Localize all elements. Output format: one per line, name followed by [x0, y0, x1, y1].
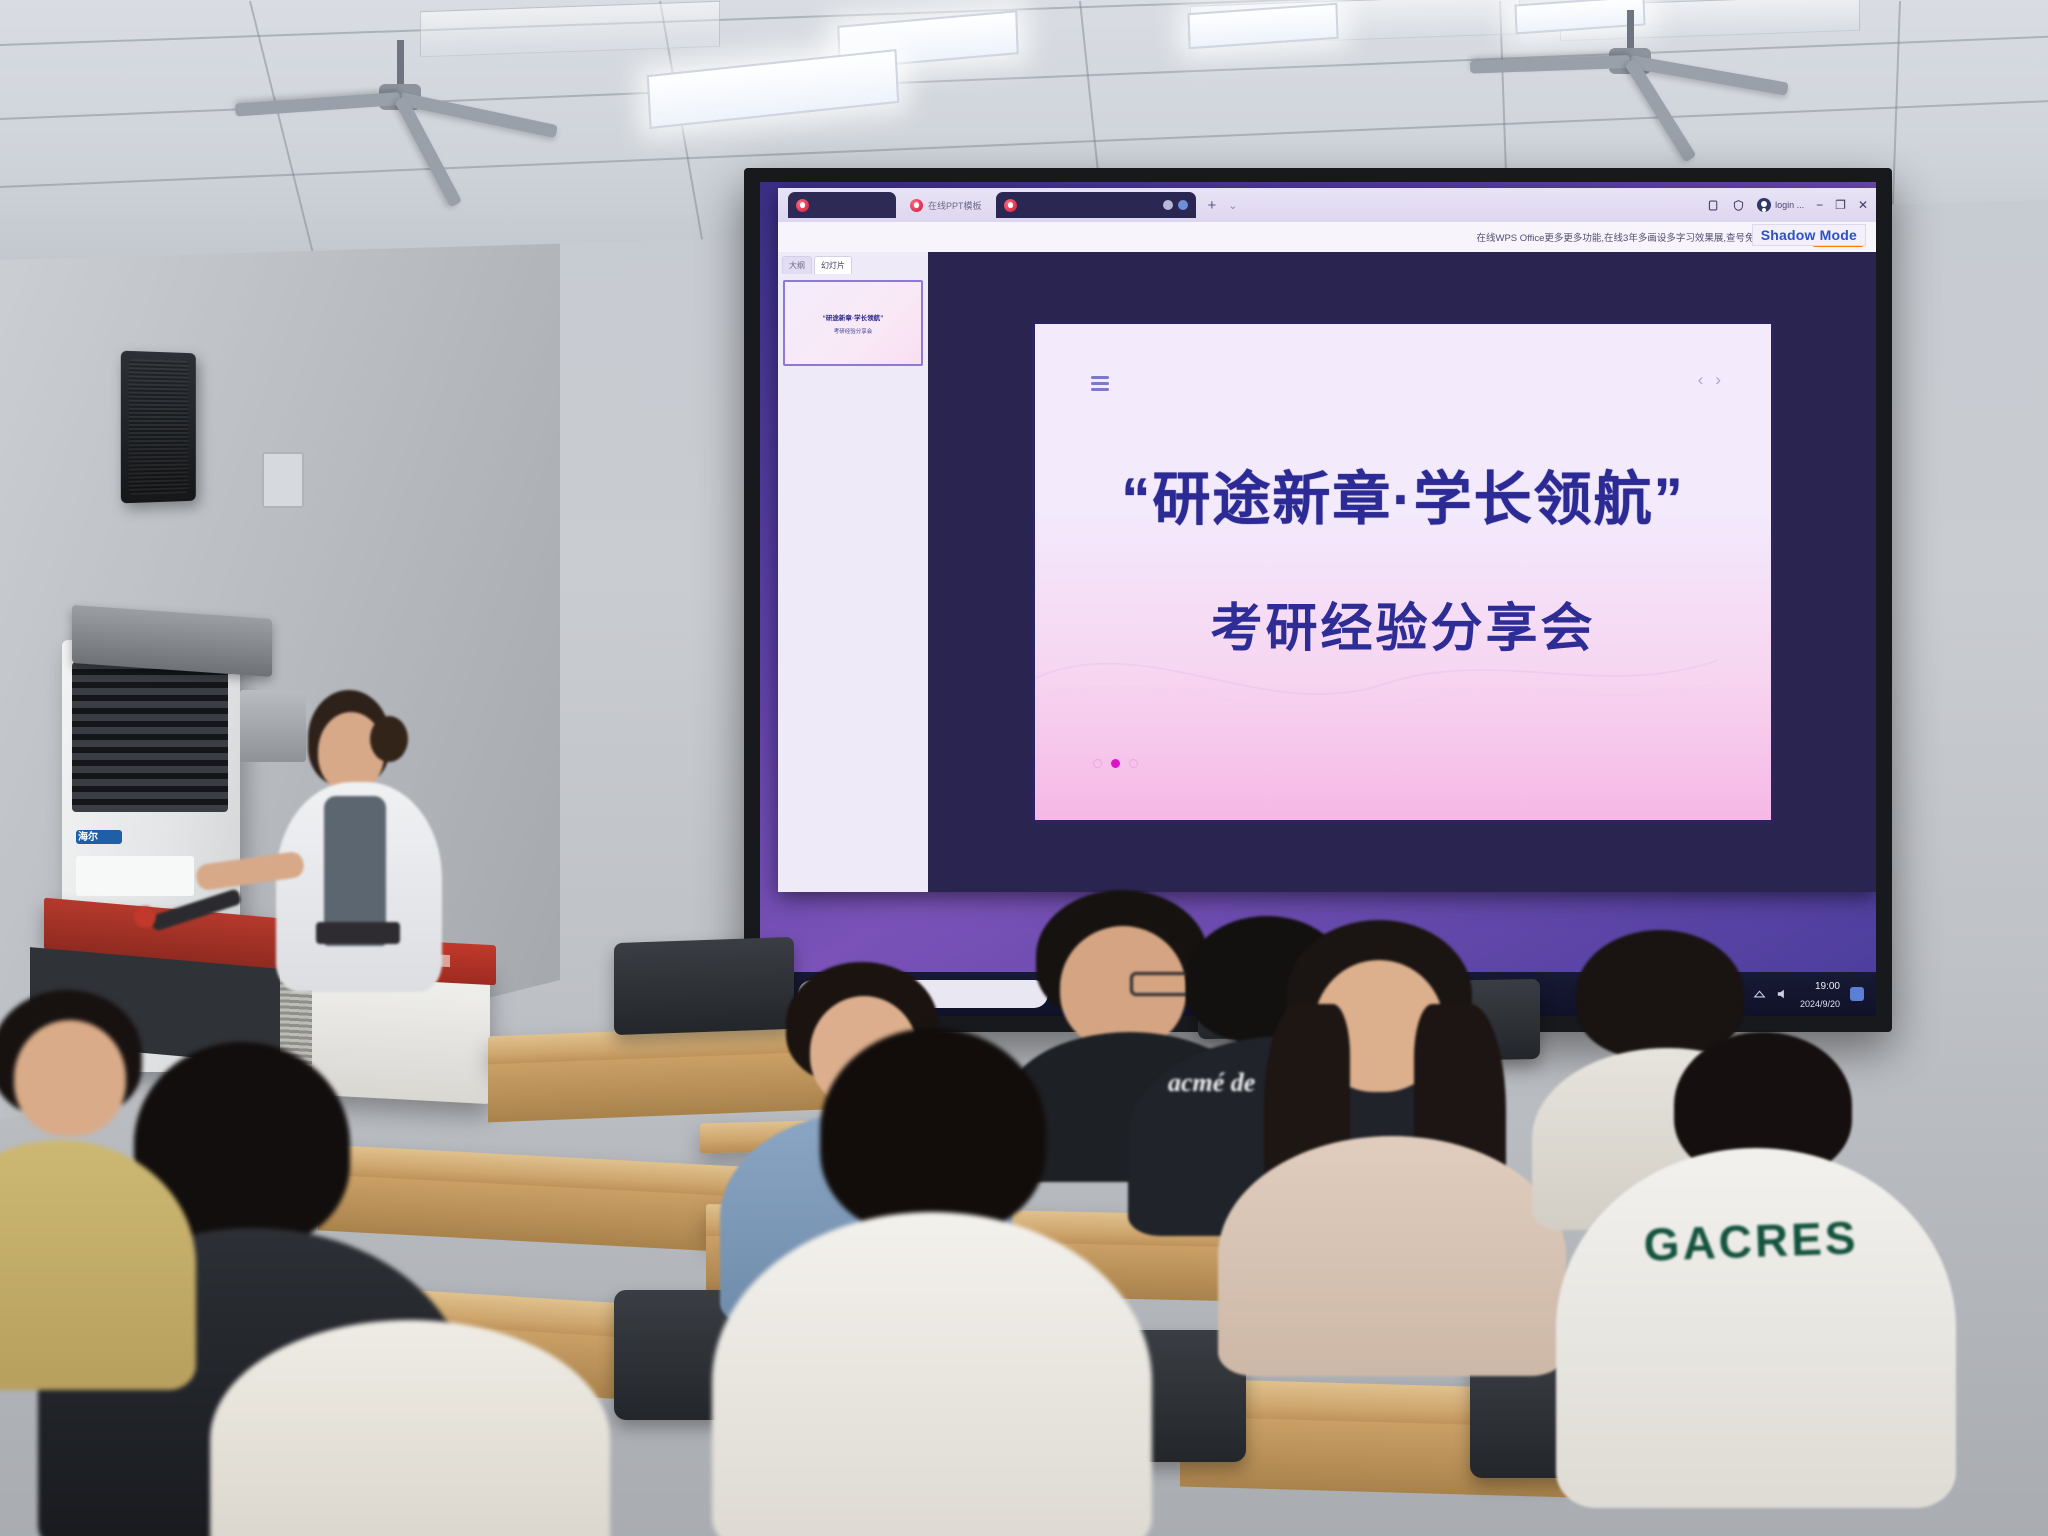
browser-tab-1[interactable]	[788, 192, 896, 218]
shield-icon[interactable]	[1732, 199, 1745, 212]
taskbar-clock[interactable]: 19:00 2024/9/20	[1800, 976, 1840, 1013]
slide-subtitle: 考研经验分享会	[1035, 586, 1771, 661]
presenter-belt	[316, 922, 400, 944]
slide-pagination[interactable]	[1093, 759, 1138, 768]
tab-label: 在线PPT模板	[928, 199, 982, 212]
profile-button[interactable]: login ...	[1757, 198, 1804, 212]
window-minimize-button[interactable]: −	[1816, 199, 1823, 211]
browser-tab-3[interactable]	[996, 192, 1196, 218]
slide-nav-controls[interactable]: ‹ ›	[1698, 370, 1721, 390]
ceiling-fan-right	[1480, 10, 1780, 120]
torso	[1556, 1148, 1956, 1508]
wps-browser-window: 在线PPT模板 + ⌄	[778, 188, 1876, 892]
slide-stage: ‹ › “研途新章·学长领航” 考研经验分享会	[928, 252, 1876, 892]
thumbnail-title: “研途新章·学长领航”	[823, 312, 884, 322]
wall-speaker	[121, 351, 196, 504]
hamburger-icon[interactable]	[1091, 376, 1109, 394]
clock-time: 19:00	[1815, 981, 1840, 992]
hair	[820, 1028, 1046, 1234]
pagination-dot[interactable]	[1093, 759, 1102, 768]
outlet-panel	[262, 452, 304, 508]
tab-audio-icon[interactable]	[1163, 200, 1173, 210]
browser-tab-2[interactable]: 在线PPT模板	[902, 192, 990, 218]
tab-overflow-icon[interactable]: ⌄	[1228, 199, 1237, 212]
wps-app-body: 大纲 幻灯片 “研途新章·学长领航” 考研经验分享会	[778, 252, 1876, 892]
head	[14, 1020, 126, 1136]
student-gacres: GACRES	[1556, 1032, 1946, 1502]
wps-icon	[1004, 199, 1017, 212]
notification-icon[interactable]	[1850, 987, 1864, 1001]
presenter	[258, 690, 448, 1020]
wall-display-frame: 在线PPT模板 + ⌄	[744, 168, 1892, 1032]
slide-panel-tabs[interactable]: 大纲 幻灯片	[778, 252, 928, 274]
wps-icon	[910, 199, 923, 212]
tab-strip[interactable]: 在线PPT模板 + ⌄	[778, 192, 1707, 218]
current-slide[interactable]: ‹ › “研途新章·学长领航” 考研经验分享会	[1032, 321, 1774, 823]
profile-name: login ...	[1775, 200, 1804, 210]
torso	[712, 1212, 1152, 1536]
slide-thumbnail-1[interactable]: “研途新章·学长领航” 考研经验分享会	[783, 280, 923, 366]
microphone-head	[134, 906, 156, 928]
torso	[0, 1140, 196, 1390]
window-close-button[interactable]: ✕	[1858, 199, 1868, 211]
pagination-dot-active[interactable]	[1111, 759, 1120, 768]
student-front-center	[712, 1028, 1142, 1536]
wps-icon	[796, 199, 809, 212]
avatar	[1757, 198, 1771, 212]
slide-title: “研途新章·学长领航”	[1035, 452, 1771, 536]
wall-display-screen: 在线PPT模板 + ⌄	[760, 182, 1876, 1016]
browser-titlebar: 在线PPT模板 + ⌄	[778, 188, 1876, 222]
new-tab-button[interactable]: +	[1202, 197, 1223, 214]
collections-icon[interactable]	[1707, 199, 1720, 212]
chevron-left-icon[interactable]: ‹	[1698, 370, 1704, 390]
ceiling-fan-left	[250, 40, 550, 160]
clock-date: 2024/9/20	[1800, 999, 1840, 1009]
presenter-hair-bun	[370, 716, 408, 762]
student-front-right-white	[210, 1320, 610, 1536]
thumbnail-strip: “研途新章·学长领航” 考研经验分享会	[778, 274, 928, 372]
ac-brand-label: 海尔	[78, 828, 98, 843]
chevron-right-icon[interactable]: ›	[1715, 370, 1721, 390]
tab-outline[interactable]: 大纲	[782, 256, 812, 274]
pagination-dot[interactable]	[1129, 759, 1138, 768]
classroom-scene: 海尔	[0, 0, 2048, 1536]
tab-pin-icon[interactable]	[1178, 200, 1188, 210]
promo-notice-bar: 在线WPS Office更多更多功能,在线3年多画设多字习效果展,查号免费更多化…	[778, 222, 1876, 252]
shadow-mode-badge[interactable]: Shadow Mode	[1752, 224, 1866, 246]
windows-desktop: 在线PPT模板 + ⌄	[760, 182, 1876, 1016]
tab-slides[interactable]: 幻灯片	[814, 256, 852, 274]
titlebar-right-controls: login ... − ❐ ✕	[1707, 198, 1876, 212]
student-long-hair	[1228, 920, 1544, 1360]
student-far-left	[0, 990, 200, 1390]
torso	[1218, 1136, 1566, 1376]
window-maximize-button[interactable]: ❐	[1835, 199, 1846, 211]
volume-icon[interactable]	[1776, 988, 1790, 1000]
slide-panel: 大纲 幻灯片 “研途新章·学长领航” 考研经验分享会	[778, 252, 928, 892]
torso	[210, 1320, 610, 1536]
thumbnail-subtitle: 考研经验分享会	[834, 327, 873, 335]
